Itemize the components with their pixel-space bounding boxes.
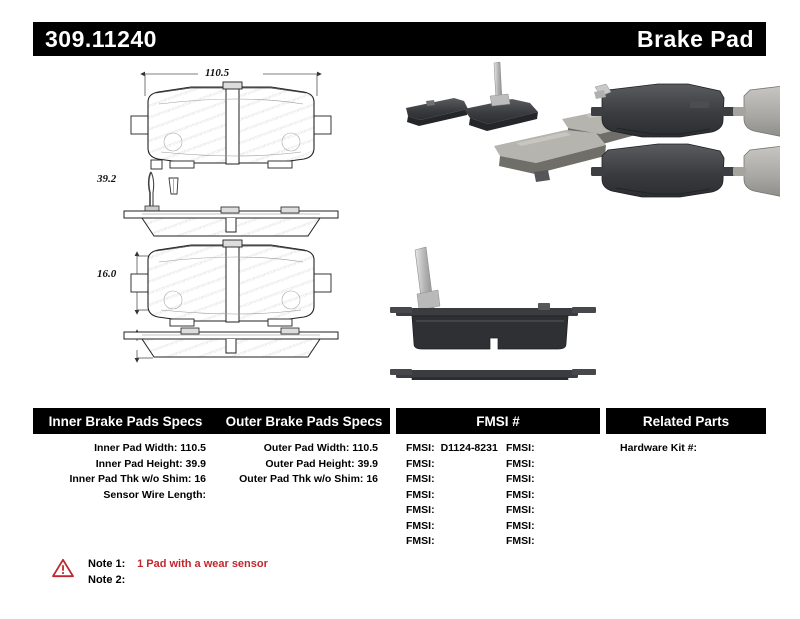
cad-drawing-panel: 110.5 39.2 16.0 STOPTECH bbox=[95, 60, 385, 380]
table-header-row: Inner Brake Pads Specs Outer Brake Pads … bbox=[33, 408, 766, 434]
fmsi-value bbox=[435, 458, 441, 470]
fmsi-label: FMSI: bbox=[406, 473, 435, 485]
fmsi-label: FMSI: bbox=[506, 489, 535, 501]
sensor-clip-detail bbox=[169, 178, 178, 194]
fmsi-subcolumn-right: FMSI: FMSI: FMSI: FMSI: FMSI: FMSI: FMSI… bbox=[500, 441, 600, 550]
notes-text-block: Note 1: 1 Pad with a wear sensor Note 2: bbox=[88, 556, 268, 588]
fmsi-label: FMSI: bbox=[406, 535, 435, 547]
spec-row: Outer Pad Height: 39.9 bbox=[218, 457, 390, 473]
fmsi-value bbox=[435, 473, 441, 485]
photo-topdown-pad-set bbox=[591, 84, 780, 197]
fmsi-label: FMSI: bbox=[406, 489, 435, 501]
fmsi-value bbox=[435, 489, 441, 501]
fmsi-value bbox=[535, 442, 541, 454]
note-2-label: Note 2: bbox=[88, 572, 134, 588]
dimension-label-thickness: 16.0 bbox=[97, 268, 116, 280]
fmsi-label: FMSI: bbox=[506, 504, 535, 516]
fmsi-label: FMSI: bbox=[506, 458, 535, 470]
fmsi-label: FMSI: bbox=[506, 520, 535, 532]
related-part-row: Hardware Kit #: bbox=[620, 441, 766, 457]
column-header-fmsi: FMSI # bbox=[396, 408, 600, 434]
column-header-outer-specs: Outer Brake Pads Specs bbox=[218, 408, 390, 434]
spec-row: Sensor Wire Length: bbox=[33, 488, 218, 504]
fmsi-row: FMSI:D1124-8231 bbox=[406, 441, 500, 457]
fmsi-row: FMSI: bbox=[406, 472, 500, 488]
fmsi-value bbox=[535, 458, 541, 470]
fmsi-row: FMSI: bbox=[406, 457, 500, 473]
fmsi-value bbox=[535, 489, 541, 501]
fmsi-subcolumn-left: FMSI:D1124-8231 FMSI: FMSI: FMSI: FMSI: … bbox=[396, 441, 500, 550]
related-parts-column: Hardware Kit #: bbox=[606, 441, 766, 550]
fmsi-row: FMSI: bbox=[506, 472, 600, 488]
product-type-label: Brake Pad bbox=[637, 28, 754, 51]
dimension-label-height: 39.2 bbox=[97, 173, 116, 185]
note-1-value: 1 Pad with a wear sensor bbox=[137, 558, 268, 570]
fmsi-label: FMSI: bbox=[506, 535, 535, 547]
fmsi-value bbox=[435, 535, 441, 547]
fmsi-row: FMSI: bbox=[506, 441, 600, 457]
spec-row: Inner Pad Height: 39.9 bbox=[33, 457, 218, 473]
product-photo-panel bbox=[390, 60, 780, 380]
pad-plan-view-bottom bbox=[131, 240, 331, 326]
note-1-label: Note 1: bbox=[88, 556, 134, 572]
fmsi-row: FMSI: bbox=[506, 503, 600, 519]
fmsi-value: D1124-8231 bbox=[435, 442, 498, 454]
pad-plan-view-top bbox=[131, 82, 331, 169]
fmsi-label: FMSI: bbox=[506, 473, 535, 485]
drawing-area: 110.5 39.2 16.0 STOPTECH bbox=[0, 60, 800, 395]
fmsi-value bbox=[435, 520, 441, 532]
fmsi-row: FMSI: bbox=[506, 519, 600, 535]
pad-edge-view-bottom bbox=[124, 328, 338, 357]
product-photos-svg bbox=[390, 60, 780, 380]
fmsi-row: FMSI: bbox=[406, 503, 500, 519]
fmsi-value bbox=[435, 504, 441, 516]
table-body: Inner Pad Width: 110.5 Inner Pad Height:… bbox=[33, 441, 766, 550]
fmsi-value bbox=[535, 504, 541, 516]
fmsi-label: FMSI: bbox=[506, 442, 535, 454]
note-1-line: Note 1: 1 Pad with a wear sensor bbox=[88, 556, 268, 572]
column-header-related-parts: Related Parts bbox=[606, 408, 766, 434]
fmsi-label: FMSI: bbox=[406, 504, 435, 516]
cad-drawing-svg: STOPTECH bbox=[95, 60, 385, 380]
dimension-label-width: 110.5 bbox=[205, 67, 229, 79]
notes-section: Note 1: 1 Pad with a wear sensor Note 2: bbox=[52, 556, 268, 588]
fmsi-label: FMSI: bbox=[406, 458, 435, 470]
warning-triangle-icon bbox=[52, 558, 74, 578]
column-header-inner-specs: Inner Brake Pads Specs bbox=[33, 408, 218, 434]
fmsi-label: FMSI: bbox=[406, 520, 435, 532]
fmsi-column: FMSI:D1124-8231 FMSI: FMSI: FMSI: FMSI: … bbox=[396, 441, 600, 550]
fmsi-row: FMSI: bbox=[506, 488, 600, 504]
spec-row: Outer Pad Width: 110.5 bbox=[218, 441, 390, 457]
fmsi-row: FMSI: bbox=[506, 457, 600, 473]
fmsi-row: FMSI: bbox=[506, 534, 600, 550]
fmsi-value bbox=[535, 535, 541, 547]
fmsi-row: FMSI: bbox=[406, 519, 500, 535]
spec-row: Inner Pad Width: 110.5 bbox=[33, 441, 218, 457]
spec-row: Inner Pad Thk w/o Shim: 16 bbox=[33, 472, 218, 488]
spec-row: Outer Pad Thk w/o Shim: 16 bbox=[218, 472, 390, 488]
fmsi-row: FMSI: bbox=[406, 488, 500, 504]
fmsi-value bbox=[535, 520, 541, 532]
outer-specs-column: Outer Pad Width: 110.5 Outer Pad Height:… bbox=[218, 441, 390, 550]
pad-edge-view-with-sensor bbox=[124, 172, 338, 236]
specifications-table: Inner Brake Pads Specs Outer Brake Pads … bbox=[33, 408, 766, 550]
fmsi-label: FMSI: bbox=[406, 442, 435, 454]
part-number: 309.11240 bbox=[45, 28, 157, 51]
title-bar: 309.11240 Brake Pad bbox=[33, 22, 766, 56]
photo-edge-pad-pair bbox=[390, 247, 596, 380]
note-2-line: Note 2: bbox=[88, 572, 268, 588]
inner-specs-column: Inner Pad Width: 110.5 Inner Pad Height:… bbox=[33, 441, 218, 550]
fmsi-value bbox=[535, 473, 541, 485]
fmsi-row: FMSI: bbox=[406, 534, 500, 550]
